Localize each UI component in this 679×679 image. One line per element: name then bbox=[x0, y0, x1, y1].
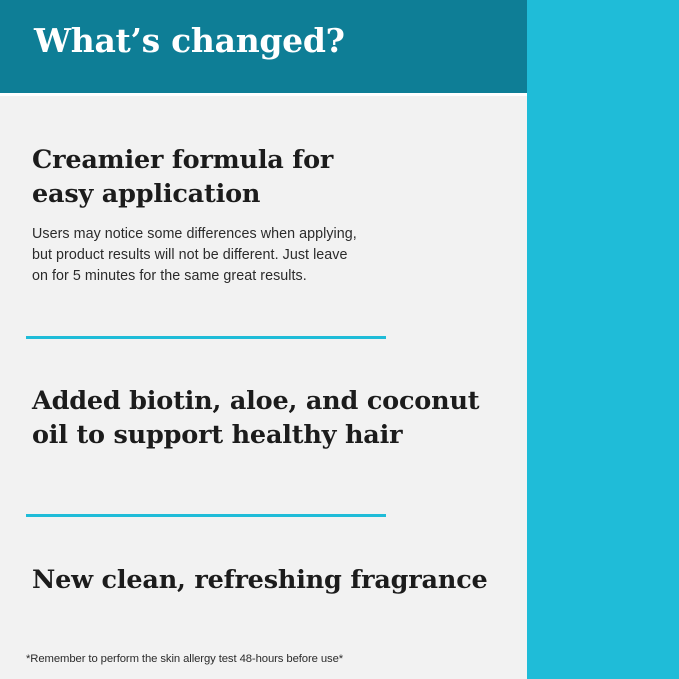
section-1-body: Users may notice some differences when a… bbox=[32, 224, 502, 287]
section-1-body-line-1: Users may notice some differences when a… bbox=[32, 224, 502, 245]
content-panel: Creamier formula for easy application Us… bbox=[0, 96, 527, 679]
section-1-body-line-2: but product results will not be differen… bbox=[32, 245, 502, 266]
section-2-heading-line-2: oil to support healthy hair bbox=[32, 418, 502, 452]
page-title: What’s changed? bbox=[34, 21, 345, 61]
section-1-body-line-3: on for 5 minutes for the same great resu… bbox=[32, 266, 502, 287]
section-3-heading-line-1: New clean, refreshing fragrance bbox=[32, 563, 502, 597]
section-creamier-formula: Creamier formula for easy application Us… bbox=[32, 143, 502, 287]
section-added-ingredients: Added biotin, aloe, and coconut oil to s… bbox=[32, 384, 502, 452]
section-new-fragrance: New clean, refreshing fragrance bbox=[32, 563, 502, 597]
section-2-heading: Added biotin, aloe, and coconut oil to s… bbox=[32, 384, 502, 452]
allergy-test-footnote: *Remember to perform the skin allergy te… bbox=[26, 651, 496, 667]
section-divider-1 bbox=[26, 336, 386, 339]
section-1-heading: Creamier formula for easy application bbox=[32, 143, 502, 211]
product-info-card: What’s changed? Creamier formula for eas… bbox=[0, 0, 679, 679]
section-1-heading-line-2: easy application bbox=[32, 177, 502, 211]
right-accent-band bbox=[527, 0, 679, 679]
section-1-heading-line-1: Creamier formula for bbox=[32, 143, 502, 177]
section-divider-2 bbox=[26, 514, 386, 517]
header-band: What’s changed? bbox=[0, 0, 527, 93]
section-3-heading: New clean, refreshing fragrance bbox=[32, 563, 502, 597]
section-2-heading-line-1: Added biotin, aloe, and coconut bbox=[32, 384, 502, 418]
